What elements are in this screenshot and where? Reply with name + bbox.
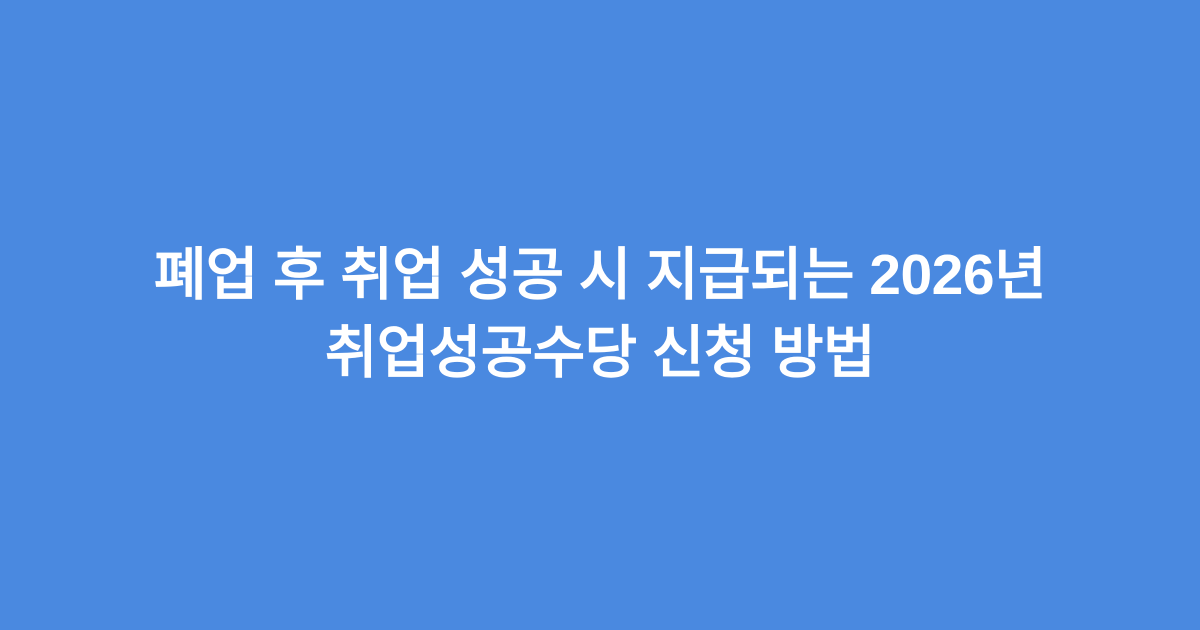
thumbnail-banner: 폐업 후 취업 성공 시 지급되는 2026년 취업성공수당 신청 방법 <box>0 0 1200 630</box>
page-title: 폐업 후 취업 성공 시 지급되는 2026년 취업성공수당 신청 방법 <box>80 237 1120 392</box>
banner-content: 폐업 후 취업 성공 시 지급되는 2026년 취업성공수당 신청 방법 <box>40 237 1160 392</box>
